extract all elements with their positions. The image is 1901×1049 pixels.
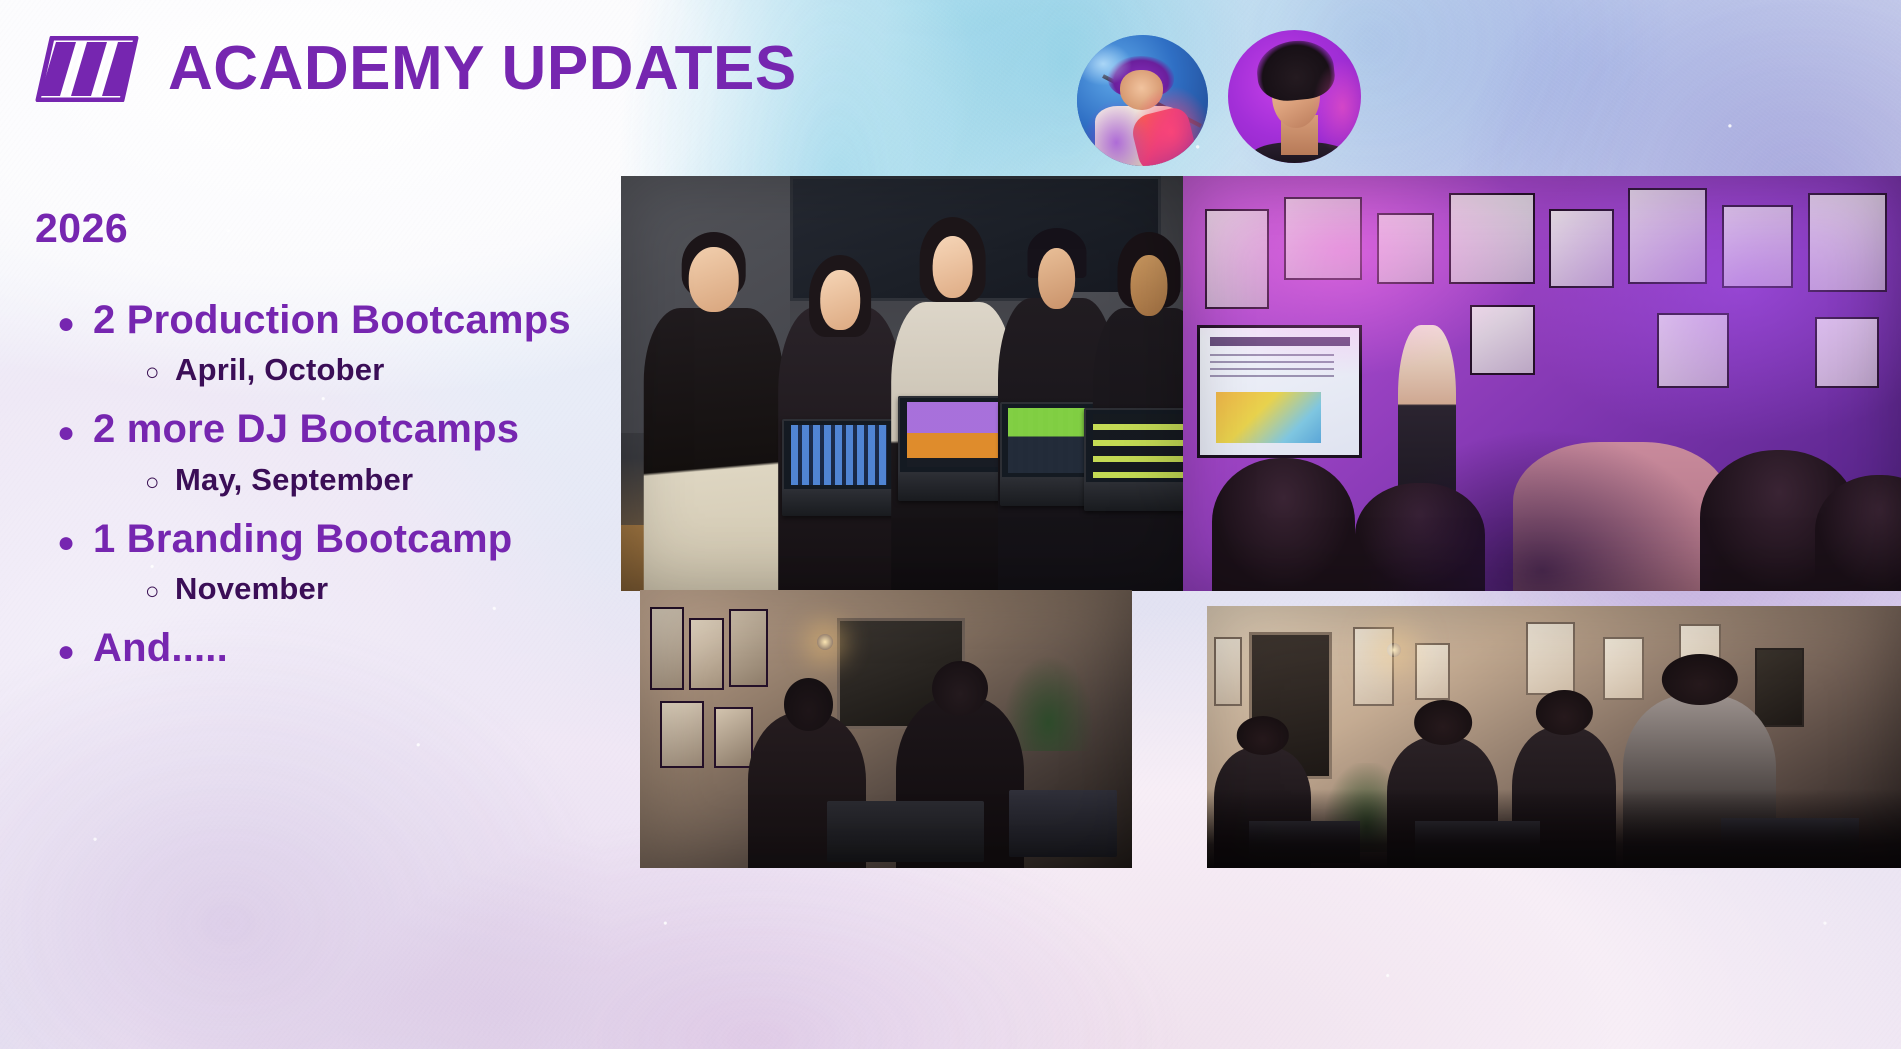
sub-bullet-circle-icon: ○: [35, 361, 175, 385]
year-label: 2026: [35, 205, 128, 252]
list-item: ● 2 more DJ Bootcamps: [35, 404, 635, 455]
night-frame: [714, 707, 753, 768]
laptop-1-screen: [782, 419, 896, 491]
night-frame: [650, 607, 684, 690]
photo-gallery-event: [1183, 176, 1901, 591]
laptop-4-keyboard: [1084, 484, 1183, 511]
night-frame: [729, 609, 768, 687]
laptop-1-keyboard: [782, 491, 896, 516]
laptop-1: [782, 419, 896, 516]
avatar-violinist: [1077, 35, 1208, 166]
person-3-face: [932, 236, 973, 298]
laptop-4: [1084, 408, 1183, 511]
sub-bullet-label: November: [175, 569, 328, 609]
bullet-dot-icon: ●: [35, 528, 93, 558]
bullet-label: 2 more DJ Bootcamps: [93, 404, 519, 455]
sub-bullet-label: April, October: [175, 350, 385, 390]
daw-session-blue: [791, 425, 888, 485]
list-item: ○ May, September: [35, 460, 635, 500]
avatar-violinist-stage-glow: [1077, 35, 1208, 166]
sub-bullet-circle-icon: ○: [35, 471, 175, 495]
person-1-body: [643, 308, 784, 591]
bullet-dot-icon: ●: [35, 309, 93, 339]
lounge-frame: [1526, 622, 1575, 695]
night-person-2-head: [932, 661, 988, 716]
list-item: ○ April, October: [35, 350, 635, 390]
bullet-dot-icon: ●: [35, 418, 93, 448]
list-item: ● 1 Branding Bootcamp: [35, 514, 635, 565]
person-1-face: [688, 247, 739, 312]
night-laptop-1: [827, 801, 984, 862]
avatar-portrait: [1228, 30, 1361, 163]
bullet-label: And.....: [93, 623, 228, 674]
slide-header: ACADEMY UPDATES: [30, 36, 797, 102]
daw-session-yellow: [1093, 414, 1183, 478]
studio-person-2: [778, 218, 902, 592]
lounge-frame: [1603, 637, 1645, 700]
photo-lounge-session: [1207, 606, 1901, 868]
laptop-4-screen: [1084, 408, 1183, 484]
photo-studio-group: [621, 176, 1183, 591]
lounge-person-2-head: [1414, 700, 1472, 745]
sub-bullet-label: May, September: [175, 460, 413, 500]
studio-person-5: [1093, 209, 1183, 591]
lounge-foreground-shadow: [1207, 789, 1901, 868]
lounge-person-4-head: [1662, 654, 1738, 706]
lounge-frame: [1755, 648, 1804, 727]
bullet-dot-icon: ●: [35, 637, 93, 667]
bullet-label: 2 Production Bootcamps: [93, 295, 571, 346]
sub-bullet-circle-icon: ○: [35, 580, 175, 604]
lounge-frame: [1214, 637, 1242, 705]
lounge-person-1-head: [1236, 716, 1288, 755]
lounge-person-3-head: [1536, 690, 1592, 735]
portrait-rim-light: [1228, 30, 1361, 163]
list-item: ○ November: [35, 569, 635, 609]
lounge-frame: [1353, 627, 1395, 706]
slide-canvas: ACADEMY UPDATES 2026 ● 2 Production Boot…: [0, 0, 1901, 1049]
studio-person-1: [643, 209, 784, 591]
gallery-lighting-glow: [1183, 176, 1901, 591]
daw-session-purple: [907, 402, 1006, 467]
person-2-face: [820, 270, 860, 330]
academy-logo-icon: [30, 36, 140, 102]
list-item: ● 2 Production Bootcamps: [35, 295, 635, 346]
night-frame: [689, 618, 723, 690]
studio-person-3: [891, 201, 1015, 591]
person-5-face: [1131, 255, 1168, 316]
list-item: ● And.....: [35, 623, 635, 674]
person-4-face: [1038, 248, 1076, 310]
night-frame: [660, 701, 704, 768]
night-laptop-2: [1009, 790, 1117, 857]
bullet-label: 1 Branding Bootcamp: [93, 514, 512, 565]
night-person-1-head: [784, 678, 834, 731]
lounge-frame: [1415, 643, 1450, 701]
page-title: ACADEMY UPDATES: [168, 38, 797, 100]
bullet-list: ● 2 Production Bootcamps ○ April, Octobe…: [35, 295, 635, 679]
photo-night-session: [640, 590, 1132, 868]
